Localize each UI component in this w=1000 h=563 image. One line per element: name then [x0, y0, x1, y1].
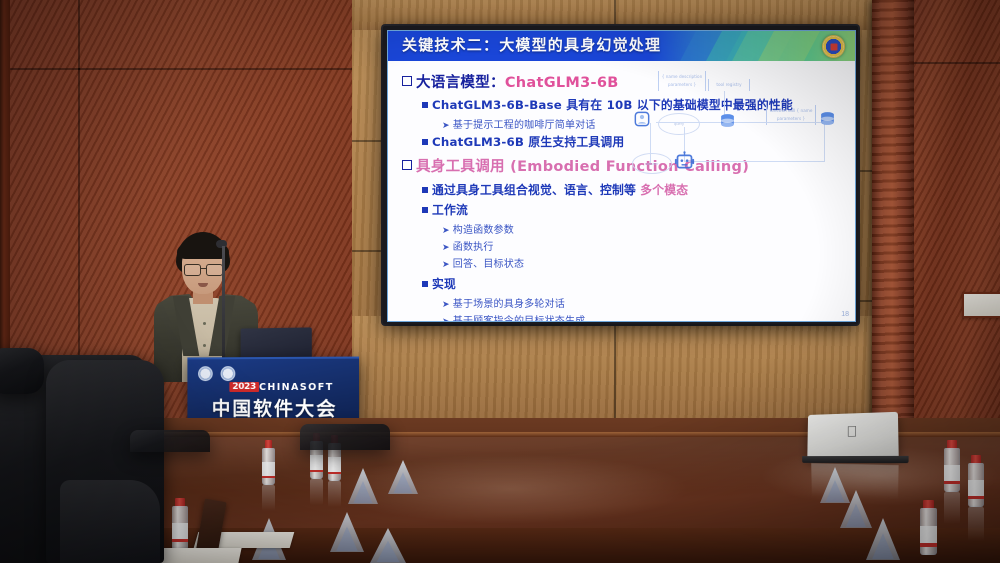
bottle-body — [944, 448, 960, 492]
organization-emblem-right-icon — [221, 366, 236, 381]
paper-document — [158, 548, 241, 563]
bottle-label — [920, 526, 937, 545]
bottle-reflection — [310, 479, 323, 505]
database-icon — [718, 113, 737, 130]
arrow-bullet-icon: ➤ — [442, 226, 450, 236]
bullet-l3-scene-multiturn: ➤基于场景的具身多轮对话 — [442, 295, 565, 310]
speaker-glasses-bridge — [200, 268, 206, 269]
macbook-base — [802, 456, 908, 463]
bottle-body — [172, 506, 188, 550]
slide-screen: 关键技术二：大模型的具身幻觉处理 大语言模型：ChatGLM3-6B ChatG… — [387, 30, 856, 322]
wall-panel-below-screen — [352, 316, 892, 420]
bottle-label-stripe — [328, 472, 341, 475]
macbook-laptop[interactable]:  — [807, 412, 898, 460]
filled-square-bullet-icon — [422, 102, 428, 108]
wall-seam — [914, 62, 1000, 64]
wall-sign — [962, 292, 1000, 318]
right-wall-dark-wood — [914, 0, 1000, 432]
bullet-l2-native-tool-call: ChatGLM3-6B 原生支持工具调用 — [422, 133, 624, 150]
filled-square-bullet-icon — [422, 207, 428, 213]
slide-title-bar: 关键技术二：大模型的具身幻觉处理 — [388, 31, 855, 61]
bottle-label — [968, 480, 984, 498]
bottle-label — [310, 455, 323, 470]
bottle-label — [172, 523, 188, 541]
podium-brand-latin: CHINASOFT — [259, 382, 334, 393]
water-bottle[interactable] — [944, 440, 960, 492]
bottle-label — [328, 457, 341, 472]
slide-title: 关键技术二：大模型的具身幻觉处理 — [402, 34, 661, 55]
apple-logo-icon:  — [846, 425, 857, 440]
conference-chair-back-row — [130, 430, 210, 452]
door-frame-left — [0, 0, 10, 360]
bottle-reflection — [944, 492, 960, 524]
bottle-label — [944, 465, 960, 483]
bullet-l2-implementation: 实现 — [422, 275, 456, 292]
arrow-bullet-icon: ➤ — [442, 121, 450, 131]
bullet-l3-prompt-cafe-dialog: ➤基于提示工程的咖啡厅简单对话 — [442, 116, 596, 131]
diagram-node-schema: { name description parameters } — [658, 71, 706, 91]
hollow-square-bullet-icon — [402, 76, 412, 86]
bottle-body — [262, 448, 275, 485]
bottle-reflection — [262, 485, 275, 511]
filled-square-bullet-icon — [422, 139, 428, 145]
bottle-label — [262, 462, 275, 477]
bottle-body — [920, 508, 937, 555]
wall-seam — [78, 68, 80, 368]
microphone-stem — [222, 246, 225, 358]
database-icon — [818, 111, 837, 128]
bottle-reflection — [328, 481, 341, 507]
bottle-reflection — [968, 507, 984, 541]
diagram-node-answer: answer — [632, 153, 672, 174]
conference-chair-headrest — [0, 348, 44, 394]
conference-chair-back-row — [300, 424, 390, 450]
wall-seam — [78, 0, 80, 70]
diagram-flow-line — [824, 122, 825, 162]
name-card-holder[interactable] — [866, 518, 900, 560]
arrow-bullet-icon: ➤ — [442, 317, 450, 322]
hollow-square-bullet-icon — [402, 160, 412, 170]
bottle-label-stripe — [310, 470, 323, 473]
filled-square-bullet-icon — [422, 281, 428, 287]
speaker-glasses-right-lens — [206, 264, 223, 276]
water-bottle[interactable] — [920, 500, 937, 555]
institution-seal-icon — [822, 35, 845, 58]
user-avatar-icon — [634, 111, 650, 127]
name-card-holder[interactable] — [348, 468, 378, 504]
robot-icon — [674, 151, 695, 172]
bullet-l3-build-params: ➤构造函数参数 — [442, 221, 514, 236]
slide-body: 大语言模型：ChatGLM3-6B ChatGLM3-6B-Base 具有在 1… — [388, 61, 855, 321]
organization-emblem-left-icon — [198, 366, 213, 381]
name-card-holder[interactable] — [370, 528, 406, 563]
speaker-jacket-button — [203, 344, 206, 347]
water-bottle[interactable] — [172, 498, 188, 550]
filled-square-bullet-icon — [422, 187, 428, 193]
bottle-label-stripe — [944, 481, 960, 484]
presentation-display[interactable]: 关键技术二：大模型的具身幻觉处理 大语言模型：ChatGLM3-6B ChatG… — [383, 26, 858, 324]
wall-seam — [0, 68, 352, 70]
bottle-label-stripe — [968, 496, 984, 499]
podium-sign: 2023 CHINASOFT 中国软件大会 — [187, 357, 359, 422]
bullet-l1-llm: 大语言模型：ChatGLM3-6B — [402, 71, 619, 92]
name-card-holder[interactable] — [388, 460, 418, 494]
water-bottle[interactable] — [262, 440, 275, 485]
bottle-label-stripe — [920, 543, 937, 546]
bullet-l3-customer-goalstate: ➤基于顾客指令的目标状态生成 — [442, 312, 585, 322]
diagram-flow-line — [684, 161, 824, 162]
arrow-bullet-icon: ➤ — [442, 260, 450, 270]
podium-year-badge: 2023 — [229, 382, 259, 392]
bullet-l3-answer-goalstate: ➤回答、目标状态 — [442, 255, 524, 270]
water-bottle[interactable] — [968, 455, 984, 507]
bullet-l2-workflow: 工作流 — [422, 201, 468, 218]
arrow-bullet-icon: ➤ — [442, 243, 450, 253]
conference-room-screenshot: 关键技术二：大模型的具身幻觉处理 大语言模型：ChatGLM3-6B ChatG… — [0, 0, 1000, 563]
slide-page-number: 18 — [841, 311, 849, 318]
bottle-body — [968, 463, 984, 507]
bullet-l3-execute-function: ➤函数执行 — [442, 238, 494, 253]
speaker-glasses-left-lens — [184, 264, 201, 276]
bottle-label-stripe — [262, 476, 275, 479]
function-calling-flow-diagram: { name description parameters } tool reg… — [626, 69, 844, 187]
table-reflection — [330, 454, 690, 524]
wall-seam — [614, 320, 616, 420]
bottle-label-stripe — [172, 539, 188, 542]
conference-chair-seat — [60, 480, 160, 563]
name-card-holder[interactable] — [330, 512, 364, 552]
diagram-node-tool-registry: tool registry — [708, 79, 750, 91]
wall-pillar — [872, 0, 914, 430]
diagram-node-query: query — [658, 113, 700, 135]
arrow-bullet-icon: ➤ — [442, 300, 450, 310]
speaker-jacket-button — [203, 322, 206, 325]
